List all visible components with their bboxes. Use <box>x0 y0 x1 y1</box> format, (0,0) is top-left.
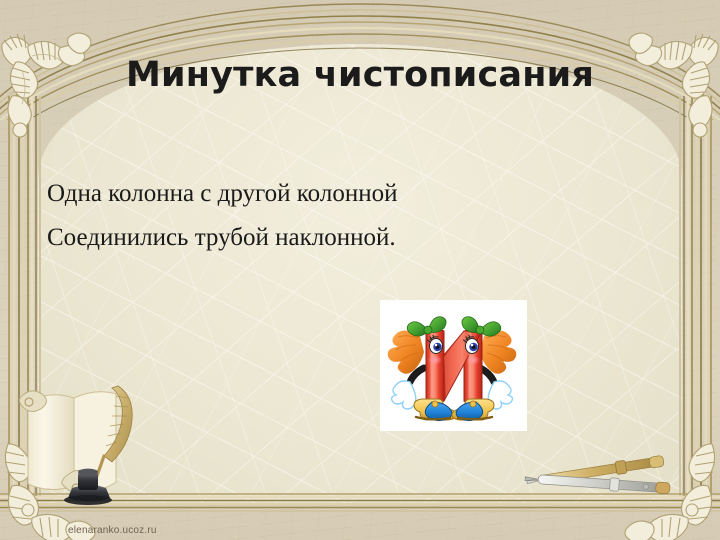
body-line-1: Одна колонна с другой колонной <box>47 172 647 216</box>
inner-cream-field <box>38 44 682 504</box>
illustration-image-box <box>380 300 527 431</box>
slide-body-text: Одна колонна с другой колонной Соединили… <box>47 172 647 260</box>
slide-canvas: Минутка чистописания Одна колонна с друг… <box>0 0 720 540</box>
crackle-texture <box>38 44 682 504</box>
cartoon-letter-i-icon <box>380 300 527 431</box>
slide-title: Минутка чистописания <box>0 54 720 96</box>
watermark-text: elenaranko.ucoz.ru <box>68 525 157 536</box>
body-line-2: Соединились трубой наклонной. <box>47 216 647 260</box>
